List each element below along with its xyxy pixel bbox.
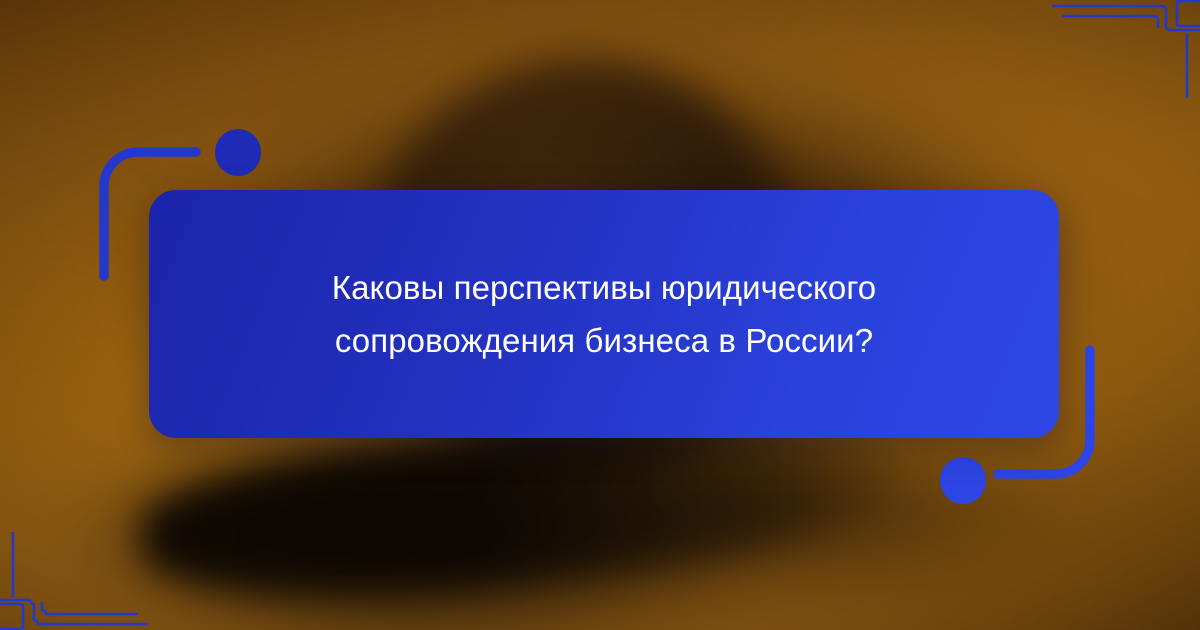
title-card: Каковы перспективы юридического сопровож…: [149, 190, 1059, 438]
circle-dot-icon: [940, 457, 986, 504]
circle-dot-icon: [215, 129, 261, 176]
share-card-canvas: Каковы перспективы юридического сопровож…: [0, 0, 1200, 630]
page-title: Каковы перспективы юридического сопровож…: [259, 261, 949, 368]
circuit-lines-icon: [1040, 0, 1200, 120]
circuit-lines-icon: [0, 510, 160, 630]
